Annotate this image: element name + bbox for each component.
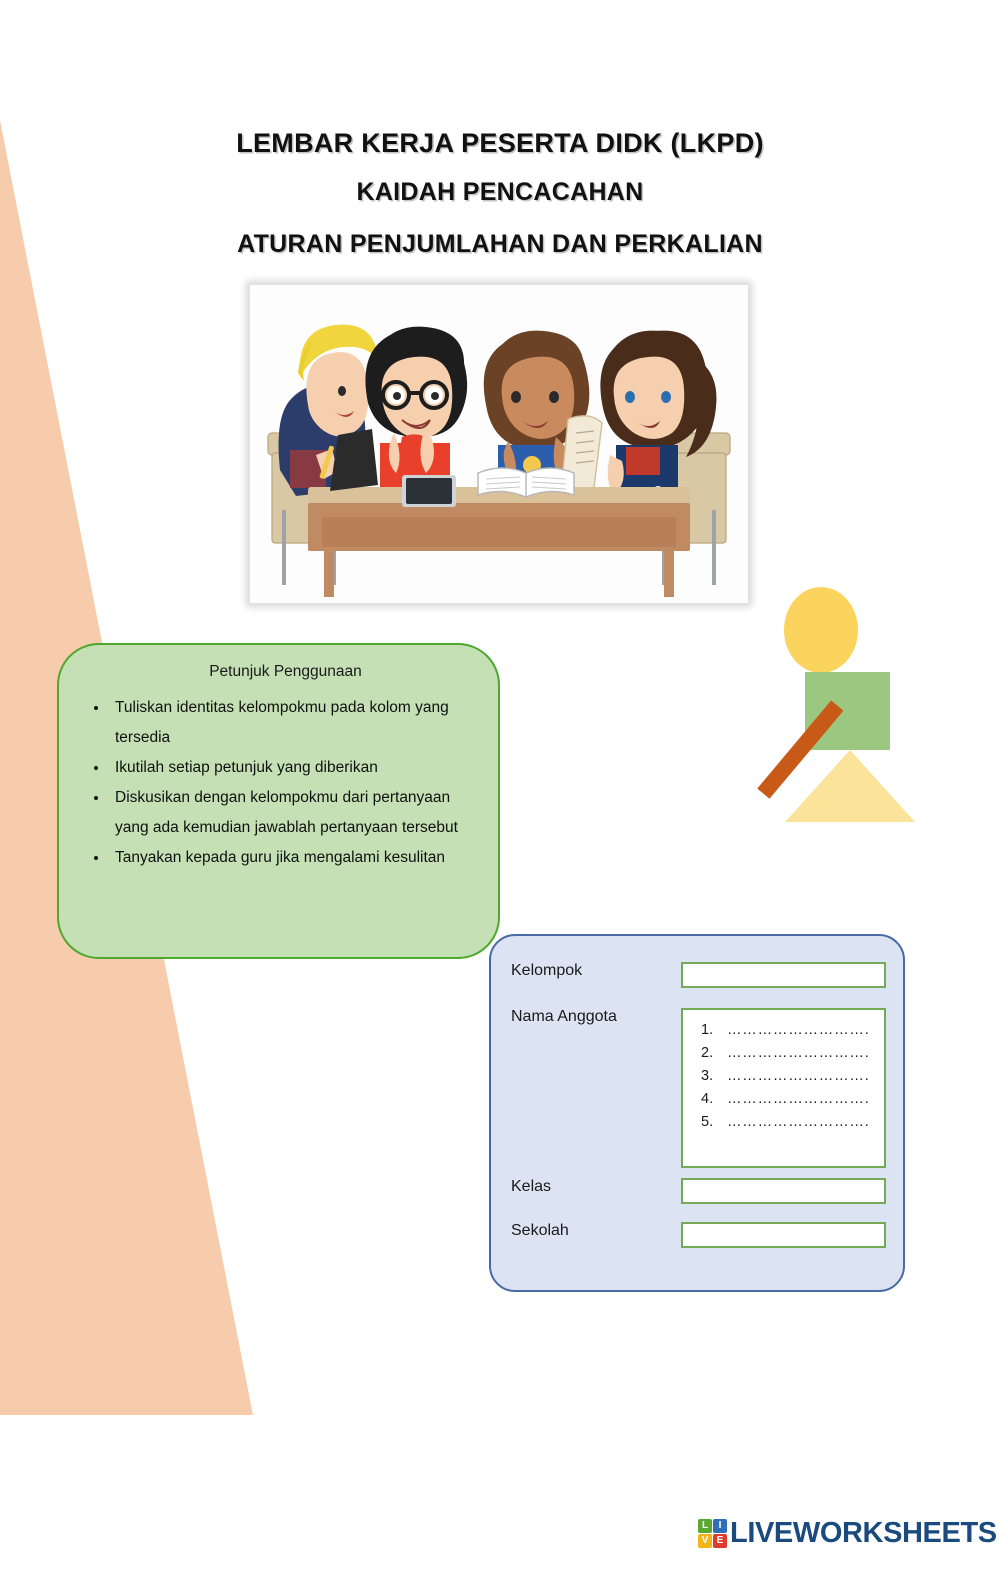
- page-title-line-3: ATURAN PENJUMLAHAN DAN PERKALIAN: [0, 218, 1000, 270]
- member-dotted-line: ………………………..: [727, 1065, 870, 1088]
- triangle-shape: [785, 750, 915, 822]
- students-illustration-svg: [250, 285, 748, 603]
- member-line: 3. ………………………..: [683, 1065, 884, 1088]
- page-title-line-1: LEMBAR KERJA PESERTA DIDK (LKPD): [0, 120, 1000, 166]
- instructions-list: Tuliskan identitas kelompokmu pada kolom…: [73, 693, 468, 873]
- member-number: 4.: [701, 1088, 727, 1111]
- member-number: 2.: [701, 1042, 727, 1065]
- member-dotted-line: ………………………..: [727, 1019, 870, 1042]
- form-row-kelas: Kelas: [511, 1178, 886, 1204]
- geometric-person-figure: [700, 580, 940, 850]
- label-sekolah: Sekolah: [511, 1222, 681, 1240]
- instruction-item: Ikutilah setiap petunjuk yang diberikan: [109, 753, 468, 783]
- member-line: 4. ………………………..: [683, 1088, 884, 1111]
- form-row-nama-anggota: Nama Anggota 1. ……………………….. 2. …………………………: [511, 1008, 886, 1168]
- input-sekolah[interactable]: [681, 1222, 886, 1248]
- instructions-title: Petunjuk Penggunaan: [59, 663, 498, 681]
- instruction-item: Tanyakan kepada guru jika mengalami kesu…: [109, 843, 468, 873]
- logo-wordmark: LIVEWORKSHEETS: [730, 1517, 997, 1550]
- logo-tile-l: L: [698, 1519, 712, 1533]
- input-kelas[interactable]: [681, 1178, 886, 1204]
- member-dotted-line: ………………………..: [727, 1042, 870, 1065]
- logo-tile-v: V: [698, 1534, 712, 1548]
- member-number: 5.: [701, 1111, 727, 1134]
- member-line: 1. ………………………..: [683, 1019, 884, 1042]
- input-kelompok[interactable]: [681, 962, 886, 988]
- member-line: 5. ………………………..: [683, 1111, 884, 1134]
- member-line: 2. ………………………..: [683, 1042, 884, 1065]
- member-number: 3.: [701, 1065, 727, 1088]
- member-dotted-line: ………………………..: [727, 1088, 870, 1111]
- page-title-line-2: KAIDAH PENCACAHAN: [0, 166, 1000, 218]
- label-kelompok: Kelompok: [511, 962, 681, 980]
- logo-tiles-icon: L I V E: [698, 1519, 727, 1548]
- circle-head-shape: [784, 587, 858, 673]
- identity-form-panel: Kelompok Nama Anggota 1. ……………………….. 2. …: [489, 934, 905, 1292]
- form-row-sekolah: Sekolah: [511, 1222, 886, 1248]
- form-row-kelompok: Kelompok: [511, 962, 886, 988]
- logo-tile-i: I: [713, 1519, 727, 1533]
- liveworksheets-logo[interactable]: L I V E LIVEWORKSHEETS: [698, 1517, 997, 1550]
- label-kelas: Kelas: [511, 1178, 681, 1196]
- input-nama-anggota[interactable]: 1. ……………………….. 2. ……………………….. 3. ……………………: [681, 1008, 886, 1168]
- member-dotted-line: ………………………..: [727, 1111, 870, 1134]
- instruction-item: Tuliskan identitas kelompokmu pada kolom…: [109, 693, 468, 753]
- page-title-block: LEMBAR KERJA PESERTA DIDK (LKPD) KAIDAH …: [0, 120, 1000, 270]
- instruction-item: Diskusikan dengan kelompokmu dari pertan…: [109, 783, 468, 843]
- member-number: 1.: [701, 1019, 727, 1042]
- logo-tile-e: E: [713, 1534, 727, 1548]
- instructions-panel: Petunjuk Penggunaan Tuliskan identitas k…: [57, 643, 500, 959]
- label-nama-anggota: Nama Anggota: [511, 1008, 681, 1026]
- students-illustration: [249, 284, 749, 604]
- worksheet-page: LEMBAR KERJA PESERTA DIDK (LKPD) KAIDAH …: [0, 0, 1000, 1570]
